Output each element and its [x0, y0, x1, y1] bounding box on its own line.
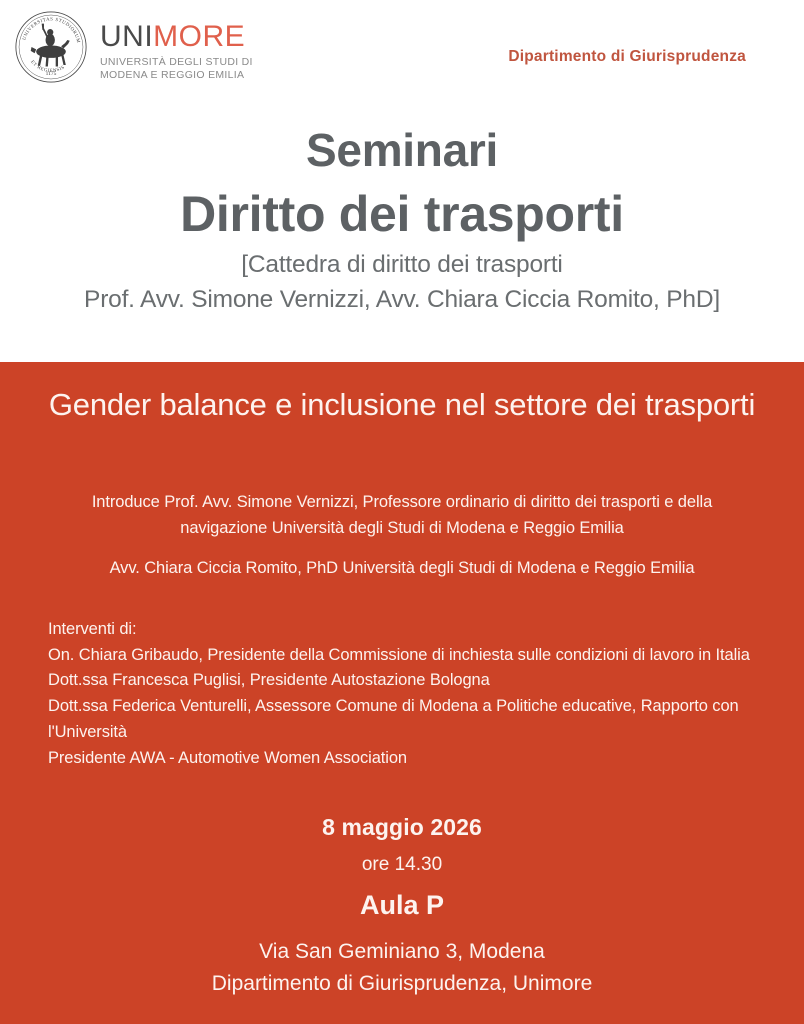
address-line-2: Dipartimento di Giurisprudenza, Unimore: [0, 968, 804, 1000]
introduction-block: Introduce Prof. Avv. Simone Vernizzi, Pr…: [48, 490, 756, 582]
subtitle-line-1: [Cattedra di diritto dei trasporti: [0, 248, 804, 283]
event-time: ore 14.30: [0, 854, 804, 876]
department-label: Dipartimento di Giurisprudenza: [508, 48, 746, 66]
address-line-1: Via San Geminiano 3, Modena: [0, 936, 804, 968]
unimore-wordmark: UNIMORE UNIVERSITÀ DEGLI STUDI DI MODENA…: [100, 8, 253, 82]
wordmark-subtitle-line1: UNIVERSITÀ DEGLI STUDI DI: [100, 56, 253, 69]
event-address: Via San Geminiano 3, Modena Dipartimento…: [0, 936, 804, 1000]
page-title: Seminari Diritto dei trasporti: [0, 120, 804, 247]
body-section: Gender balance e inclusione nel settore …: [0, 362, 804, 1024]
wordmark-text: UNIMORE: [100, 22, 253, 52]
wordmark-subtitle-line2: MODENA E REGGIO EMILIA: [100, 69, 253, 82]
seminar-topic: Gender balance e inclusione nel settore …: [42, 384, 762, 425]
speaker-item: Presidente AWA - Automotive Women Associ…: [48, 746, 764, 772]
wordmark-more: MORE: [153, 20, 245, 53]
speakers-heading: Interventi di:: [48, 617, 764, 643]
speaker-item: Dott.ssa Francesca Puglisi, Presidente A…: [48, 668, 764, 694]
event-date: 8 maggio 2026: [0, 814, 804, 841]
wordmark-subtitle: UNIVERSITÀ DEGLI STUDI DI MODENA E REGGI…: [100, 56, 253, 82]
title-line-1: Seminari: [0, 120, 804, 181]
unimore-logo: 1175 UNIVERSITAS STUDIORUM MUTINENSIS ET…: [12, 8, 253, 86]
introduction-paragraph: Introduce Prof. Avv. Simone Vernizzi, Pr…: [48, 490, 756, 541]
brand-bar: 1175 UNIVERSITAS STUDIORUM MUTINENSIS ET…: [0, 0, 804, 100]
page-subtitle: [Cattedra di diritto dei trasporti Prof.…: [0, 248, 804, 318]
event-room: Aula P: [0, 890, 804, 921]
seminar-poster: 1175 UNIVERSITAS STUDIORUM MUTINENSIS ET…: [0, 0, 804, 1024]
speaker-item: Dott.ssa Federica Venturelli, Assessore …: [48, 694, 764, 745]
header-section: 1175 UNIVERSITAS STUDIORUM MUTINENSIS ET…: [0, 0, 804, 362]
speakers-block: Interventi di: On. Chiara Gribaudo, Pres…: [48, 617, 764, 771]
introduction-second: Avv. Chiara Ciccia Romito, PhD Universit…: [48, 556, 756, 582]
subtitle-line-2: Prof. Avv. Simone Vernizzi, Avv. Chiara …: [0, 283, 804, 318]
speaker-item: On. Chiara Gribaudo, Presidente della Co…: [48, 643, 764, 669]
title-line-2: Diritto dei trasporti: [0, 181, 804, 247]
wordmark-uni: UNI: [100, 20, 153, 53]
university-seal-icon: 1175 UNIVERSITAS STUDIORUM MUTINENSIS ET…: [12, 8, 90, 86]
event-details: 8 maggio 2026 ore 14.30 Aula P Via San G…: [0, 814, 804, 1000]
